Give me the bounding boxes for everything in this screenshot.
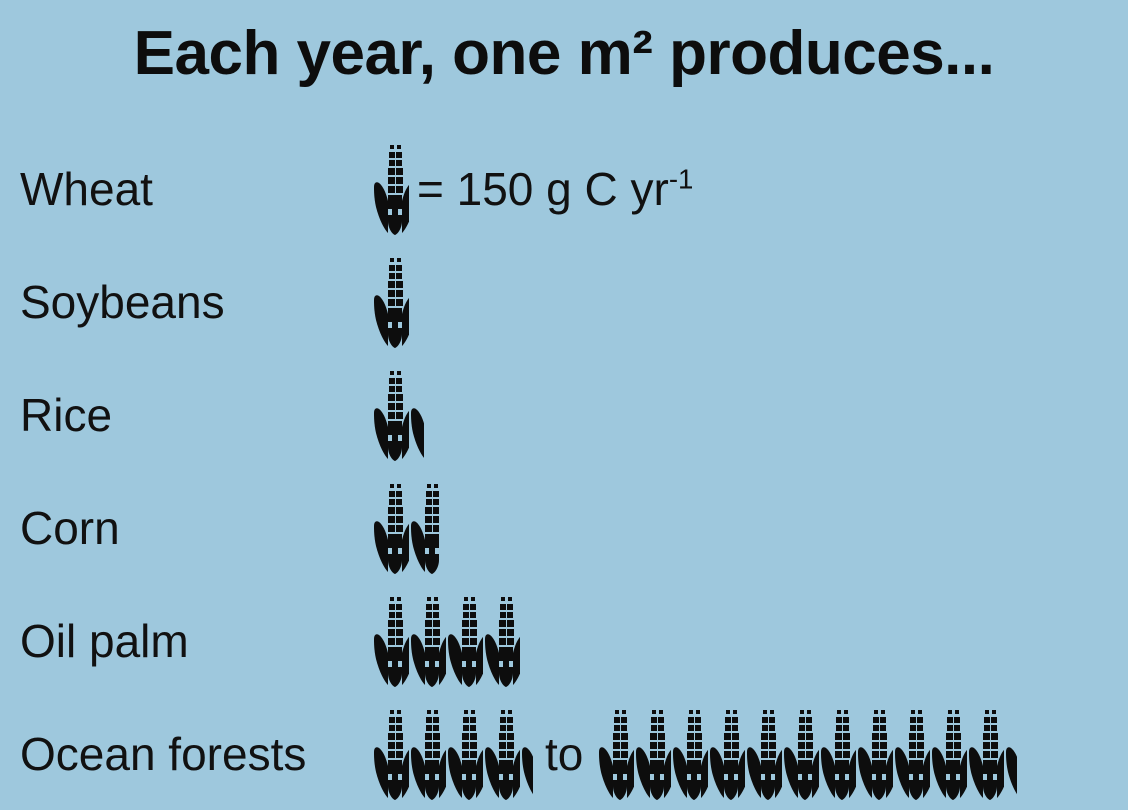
corn-cob-icon: [372, 143, 409, 235]
pictogram-row: Corn: [0, 471, 1128, 584]
row-label-wheat: Wheat: [20, 132, 153, 245]
corn-cob-icon: [930, 708, 967, 800]
legend-equation: = 150 g C yr-1: [417, 166, 693, 212]
row-icons: [372, 471, 439, 584]
corn-cob-icon: [967, 708, 1004, 800]
icon-group-primary: [372, 369, 424, 461]
corn-cob-icon: [446, 708, 483, 800]
icon-group-primary: [372, 256, 409, 348]
corn-cob-icon: [483, 595, 520, 687]
slide-canvas: Each year, one m² produces... Wheat= 150…: [0, 0, 1128, 792]
row-icons: to: [372, 697, 1017, 810]
page-title: Each year, one m² produces...: [0, 18, 1128, 89]
corn-cob-icon: [372, 369, 409, 461]
corn-cob-icon: [671, 708, 708, 800]
corn-cob-icon: [708, 708, 745, 800]
range-joiner-text: to: [545, 731, 583, 777]
row-icons: [372, 245, 409, 358]
icon-group-primary: [372, 143, 409, 235]
row-label-rice: Rice: [20, 358, 112, 471]
corn-cob-icon: [634, 708, 671, 800]
legend-equation-text: = 150 g C yr: [417, 163, 669, 215]
corn-cob-icon: [372, 595, 409, 687]
icon-group-primary: [372, 595, 520, 687]
corn-cob-partial-icon: [520, 708, 533, 800]
corn-cob-icon: [409, 595, 446, 687]
corn-cob-partial-icon: [409, 369, 424, 461]
corn-cob-icon: [856, 708, 893, 800]
corn-cob-icon: [893, 708, 930, 800]
corn-cob-icon: [745, 708, 782, 800]
corn-cob-icon: [597, 708, 634, 800]
icon-group-secondary: [597, 708, 1017, 800]
corn-cob-icon: [819, 708, 856, 800]
corn-cob-icon: [372, 256, 409, 348]
legend-exponent: -1: [669, 163, 694, 194]
corn-cob-icon: [372, 708, 409, 800]
row-icons: [372, 584, 520, 697]
corn-cob-icon: [409, 708, 446, 800]
corn-cob-partial-icon: [409, 482, 439, 574]
row-label-ocean-forests: Ocean forests: [20, 697, 306, 810]
row-icons: [372, 358, 424, 471]
pictogram-rows: Wheat= 150 g C yr-1SoybeansRiceCornOil p…: [0, 132, 1128, 810]
corn-cob-icon: [483, 708, 520, 800]
row-label-soybeans: Soybeans: [20, 245, 225, 358]
row-label-corn: Corn: [20, 471, 120, 584]
pictogram-row: Ocean foreststo: [0, 697, 1128, 810]
corn-cob-icon: [372, 482, 409, 574]
pictogram-row: Soybeans: [0, 245, 1128, 358]
pictogram-row: Wheat= 150 g C yr-1: [0, 132, 1128, 245]
row-label-oil-palm: Oil palm: [20, 584, 189, 697]
corn-cob-icon: [782, 708, 819, 800]
corn-cob-partial-icon: [1004, 708, 1017, 800]
pictogram-row: Rice: [0, 358, 1128, 471]
row-icons: = 150 g C yr-1: [372, 132, 693, 245]
pictogram-row: Oil palm: [0, 584, 1128, 697]
icon-group-primary: [372, 482, 439, 574]
icon-group-primary: [372, 708, 533, 800]
corn-cob-icon: [446, 595, 483, 687]
